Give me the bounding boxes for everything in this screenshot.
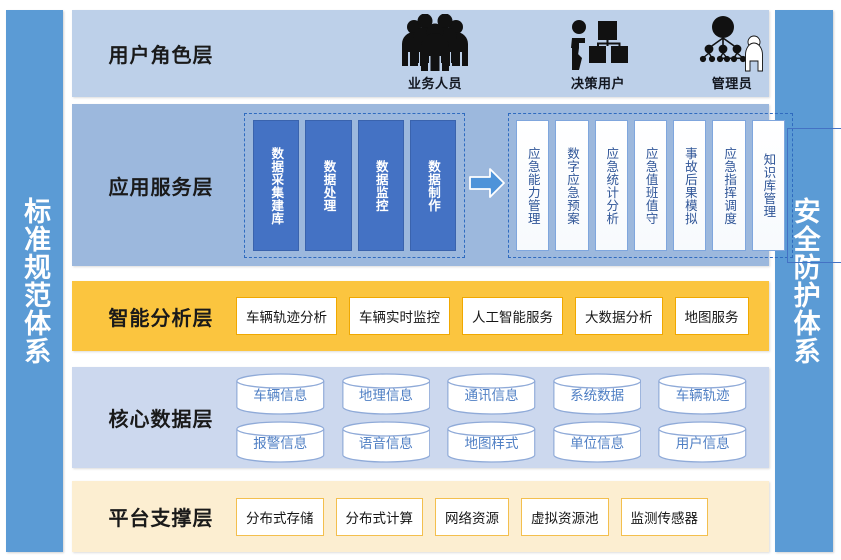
db-label: 用户信息 — [676, 432, 730, 452]
db-label: 车辆轨迹 — [676, 384, 730, 404]
emergency-apps-cards: 应急能力管理 数字应急预案 应急统计分析 应急值班值守 事故后果模拟 应急指挥调… — [516, 120, 785, 251]
ai-chip-bigdata-analysis[interactable]: 大数据分析 — [575, 297, 663, 335]
role-decision-user[interactable]: 决策用户 — [567, 14, 629, 92]
app-card-data-monitoring[interactable]: 数据监控 — [358, 120, 404, 251]
platform-chip-distributed-computing[interactable]: 分布式计算 — [336, 498, 424, 536]
right-arrow-icon — [468, 166, 506, 200]
layer-platform-support: 平台支撑层 分布式存储 分布式计算 网络资源 虚拟资源池 监测传感器 — [72, 481, 769, 552]
person-org-blocks-icon — [567, 14, 629, 72]
standards-pillar: 标准规范体系 — [6, 10, 63, 552]
data-pipeline-group: 数据采集建库 数据处理 数据监控 数据制作 — [244, 113, 465, 258]
app-card-digital-plan[interactable]: 数字应急预案 — [555, 120, 588, 251]
architecture-diagram: 标准规范体系 安全防护体系 用户角色层 — [0, 0, 841, 560]
app-card-knowledge-base[interactable]: 知识库管理 — [752, 120, 785, 251]
app-card-accident-simulation[interactable]: 事故后果模拟 — [673, 120, 706, 251]
layer-core-data: 核心数据层 车辆信息 地理信息 — [72, 367, 769, 468]
people-group-icon — [398, 14, 472, 72]
db-cylinder-vehicle-trajectory[interactable]: 车辆轨迹 — [658, 373, 747, 415]
role-label: 业务人员 — [408, 73, 462, 92]
app-card-emergency-capability[interactable]: 应急能力管理 — [516, 120, 549, 251]
app-card-data-collection[interactable]: 数据采集建库 — [253, 120, 299, 251]
db-label: 通讯信息 — [464, 384, 518, 404]
data-pipeline-cards: 数据采集建库 数据处理 数据监控 数据制作 — [253, 120, 456, 251]
standards-pillar-label: 标准规范体系 — [19, 197, 50, 365]
db-label: 地理信息 — [359, 384, 413, 404]
ai-chip-vehicle-realtime[interactable]: 车辆实时监控 — [349, 297, 450, 335]
db-cylinder-map-style[interactable]: 地图样式 — [447, 421, 536, 463]
layer-core-data-title: 核心数据层 — [86, 403, 236, 432]
security-pillar: 安全防护体系 — [775, 10, 833, 552]
db-cylinder-geo-info[interactable]: 地理信息 — [342, 373, 431, 415]
layer-user-role-title: 用户角色层 — [86, 39, 236, 68]
layer-app-service: 应用服务层 数据采集建库 数据处理 数据监控 数据制作 应急能力管理 — [72, 104, 769, 266]
layer-intelligent-analysis-title: 智能分析层 — [86, 302, 236, 331]
platform-chip-virtual-resource-pool[interactable]: 虚拟资源池 — [521, 498, 609, 536]
db-cylinder-voice-info[interactable]: 语音信息 — [342, 421, 431, 463]
ai-chip-vehicle-trajectory[interactable]: 车辆轨迹分析 — [236, 297, 337, 335]
db-cylinder-comm-info[interactable]: 通讯信息 — [447, 373, 536, 415]
db-label: 地图样式 — [464, 432, 518, 452]
platform-chip-monitoring-sensor[interactable]: 监测传感器 — [621, 498, 709, 536]
app-card-data-processing[interactable]: 数据处理 — [305, 120, 351, 251]
layer-platform-support-title: 平台支撑层 — [86, 502, 236, 531]
intelligent-analysis-items: 车辆轨迹分析 车辆实时监控 人工智能服务 大数据分析 地图服务 — [236, 297, 769, 335]
db-cylinder-user-info[interactable]: 用户信息 — [658, 421, 747, 463]
user-role-icon-row: 业务人员 — [236, 10, 769, 97]
layer-intelligent-analysis: 智能分析层 车辆轨迹分析 车辆实时监控 人工智能服务 大数据分析 地图服务 — [72, 281, 769, 351]
layer-user-role: 用户角色层 — [72, 10, 769, 97]
layer-app-service-title: 应用服务层 — [86, 171, 236, 200]
db-label: 报警信息 — [253, 432, 307, 452]
db-label: 系统数据 — [570, 384, 624, 404]
role-label: 管理员 — [712, 73, 753, 92]
ai-chip-map-service[interactable]: 地图服务 — [675, 297, 749, 335]
db-cylinder-alarm-info[interactable]: 报警信息 — [236, 421, 325, 463]
db-cylinder-vehicle-info[interactable]: 车辆信息 — [236, 373, 325, 415]
emergency-apps-group: 应急能力管理 数字应急预案 应急统计分析 应急值班值守 事故后果模拟 应急指挥调… — [508, 113, 793, 258]
app-card-emergency-command[interactable]: 应急指挥调度 — [712, 120, 745, 251]
platform-chip-network-resource[interactable]: 网络资源 — [435, 498, 509, 536]
db-cylinder-unit-info[interactable]: 单位信息 — [553, 421, 642, 463]
core-data-cylinders: 车辆信息 地理信息 通讯信息 — [236, 373, 769, 463]
app-card-emergency-statistics[interactable]: 应急统计分析 — [595, 120, 628, 251]
app-service-body: 数据采集建库 数据处理 数据监控 数据制作 应急能力管理 数字应急预案 应急统计… — [236, 104, 769, 266]
ai-chip-ai-service[interactable]: 人工智能服务 — [462, 297, 563, 335]
db-label: 单位信息 — [570, 432, 624, 452]
db-label: 语音信息 — [359, 432, 413, 452]
platform-support-items: 分布式存储 分布式计算 网络资源 虚拟资源池 监测传感器 — [236, 498, 769, 536]
app-card-data-production[interactable]: 数据制作 — [410, 120, 456, 251]
platform-chip-distributed-storage[interactable]: 分布式存储 — [236, 498, 324, 536]
admin-hierarchy-icon — [698, 14, 766, 72]
db-cylinder-system-data[interactable]: 系统数据 — [553, 373, 642, 415]
db-label: 车辆信息 — [253, 384, 307, 404]
emergency-apps-inner-border — [787, 128, 841, 263]
role-label: 决策用户 — [571, 73, 625, 92]
role-administrator[interactable]: 管理员 — [698, 14, 766, 92]
role-business-staff[interactable]: 业务人员 — [398, 14, 472, 92]
app-card-emergency-duty[interactable]: 应急值班值守 — [634, 120, 667, 251]
